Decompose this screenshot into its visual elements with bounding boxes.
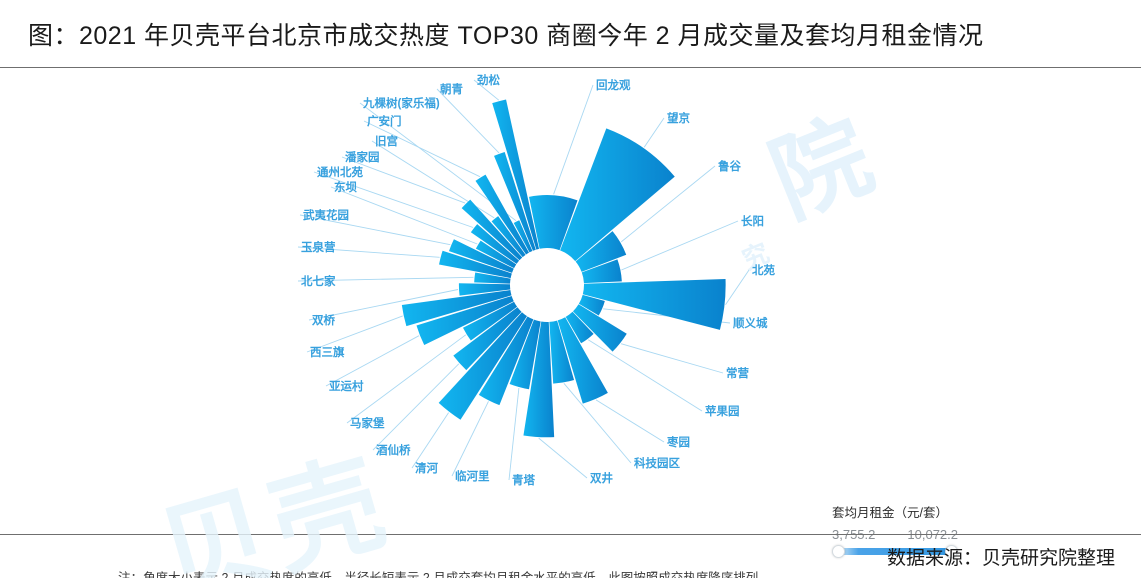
leader-line (644, 118, 664, 147)
leader-line (412, 413, 449, 468)
leader-line (509, 388, 519, 480)
sector-label: 通州北苑 (317, 165, 363, 179)
leader-line (437, 89, 499, 153)
sector-label: 朝青 (440, 82, 463, 96)
leader-line (621, 221, 738, 270)
sector-group (402, 99, 726, 437)
sector-label: 临河里 (455, 469, 490, 483)
leader-line (364, 121, 480, 177)
sector-label: 顺义城 (733, 316, 768, 330)
sector-label: 望京 (667, 111, 690, 125)
page-title: 图：2021 年贝壳平台北京市成交热度 TOP30 商圈今年 2 月成交量及套均… (0, 16, 984, 52)
sector-label: 双桥 (311, 313, 335, 327)
sector-label: 东坝 (334, 180, 357, 194)
leader-line (539, 438, 587, 478)
sector-label: 青塔 (512, 473, 535, 487)
sector-label: 双井 (589, 471, 613, 485)
chart-area: 院 究 回龙观望京鲁谷长阳北苑顺义城常营苹果园枣园科技园区双井青塔临河里清河酒仙… (0, 68, 1141, 534)
sector-label: 长阳 (741, 214, 764, 228)
sector-label: 亚运村 (329, 379, 364, 393)
sector-label: 广安门 (367, 114, 402, 128)
sector-label: 九棵树(家乐福) (362, 96, 440, 110)
rose-chart: 回龙观望京鲁谷长阳北苑顺义城常营苹果园枣园科技园区双井青塔临河里清河酒仙桥马家堡… (0, 68, 1141, 534)
data-source: 数据来源：贝壳研究院整理 (887, 543, 1141, 570)
sector-label: 回龙观 (596, 78, 631, 92)
sector-label: 苹果园 (705, 404, 740, 418)
sector-label: 清河 (415, 461, 438, 475)
title-bar: 图：2021 年贝壳平台北京市成交热度 TOP30 商圈今年 2 月成交量及套均… (0, 0, 1141, 68)
legend-title: 套均月租金（元/套） (832, 502, 982, 521)
sector-label: 北苑 (752, 263, 775, 277)
leader-line (596, 400, 664, 442)
sector-label: 科技园区 (634, 456, 680, 470)
leader-line (326, 336, 419, 386)
leader-line (621, 344, 723, 373)
footer-bar: 数据来源：贝壳研究院整理 (0, 535, 1141, 578)
leader-line (726, 270, 750, 305)
sector-label: 旧宫 (375, 134, 398, 148)
sector-label: 武夷花园 (303, 208, 349, 222)
sector-label: 玉泉营 (301, 240, 336, 254)
chart-page: 图：2021 年贝壳平台北京市成交热度 TOP30 商圈今年 2 月成交量及套均… (0, 0, 1141, 578)
sector-label: 西三旗 (310, 345, 345, 359)
sector-label: 潘家园 (345, 150, 380, 164)
sector-label: 北七家 (301, 274, 336, 288)
leader-line (554, 85, 593, 194)
sector-label: 酒仙桥 (376, 443, 411, 457)
sector-label: 鲁谷 (718, 159, 741, 173)
sector-label: 劲松 (476, 73, 500, 87)
sector-label: 枣园 (666, 435, 690, 449)
sector-label: 常营 (726, 366, 749, 380)
